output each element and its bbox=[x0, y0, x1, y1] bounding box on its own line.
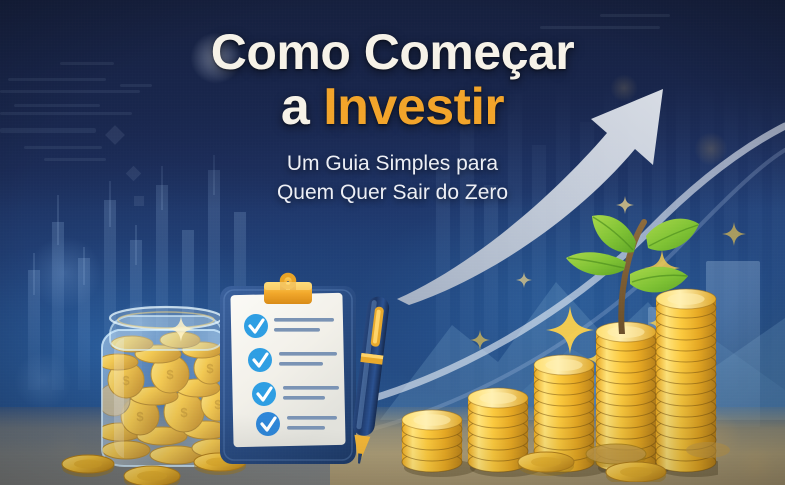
clipboard-clip-icon bbox=[264, 275, 312, 304]
page-title-line2: a Investir bbox=[0, 78, 785, 136]
subtitle-line1: Um Guia Simples para bbox=[0, 150, 785, 179]
coin-stack bbox=[402, 410, 476, 477]
title-block: Como Começar a Investir Um Guia Simples … bbox=[0, 26, 785, 208]
subtitle: Um Guia Simples para Quem Quer Sair do Z… bbox=[0, 150, 785, 208]
sprout-icon bbox=[536, 214, 701, 334]
sparkle-star-icon bbox=[722, 222, 746, 246]
clipboard-illustration bbox=[216, 272, 391, 472]
checklist-clipboard[interactable] bbox=[216, 272, 391, 472]
check-circle-icon bbox=[248, 348, 272, 372]
title-highlight: Investir bbox=[323, 78, 504, 136]
sparkle-star-icon bbox=[168, 316, 194, 342]
loose-coin bbox=[124, 466, 180, 485]
page-title-line1: Como Começar bbox=[0, 26, 785, 78]
growth-sprout bbox=[536, 214, 701, 334]
loose-coin bbox=[606, 462, 666, 482]
subtitle-line2: Quem Quer Sair do Zero bbox=[0, 179, 785, 208]
check-circle-icon bbox=[252, 382, 276, 406]
poster-canvas: Como Começar a Investir Um Guia Simples … bbox=[0, 0, 785, 485]
loose-coin bbox=[518, 452, 574, 476]
check-circle-icon bbox=[256, 412, 280, 436]
loose-coin bbox=[62, 455, 114, 477]
scattered-coins-right bbox=[512, 436, 762, 482]
loose-coin bbox=[686, 442, 730, 458]
check-circle-icon bbox=[244, 314, 268, 338]
title-prefix: a bbox=[281, 78, 323, 136]
